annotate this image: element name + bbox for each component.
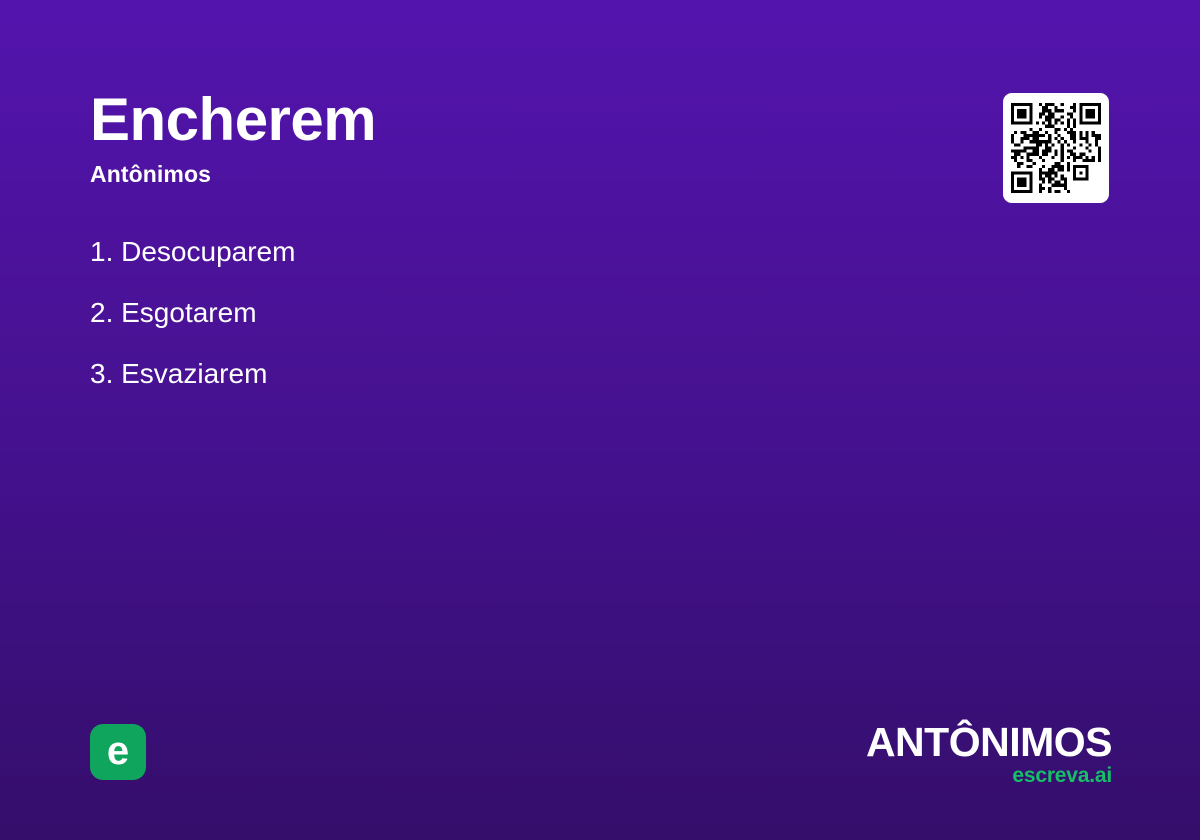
list-item: 2. Esgotarem [90,299,295,327]
list-item: 3. Esvaziarem [90,360,295,388]
escreva-logo-icon[interactable]: e [90,724,146,780]
wordmark-subtitle: escreva.ai [866,765,1112,786]
brand-wordmark: ANTÔNIMOS escreva.ai [866,722,1112,786]
wordmark-title: ANTÔNIMOS [866,722,1112,763]
qr-code[interactable] [1003,93,1109,203]
category-label: Antônimos [90,161,376,188]
list-item: 1. Desocuparem [90,238,295,266]
antonym-list: 1. Desocuparem 2. Esgotarem 3. Esvaziare… [90,238,295,421]
brand-badge-letter: e [107,731,129,771]
page-title: Encherem [90,88,376,151]
card-header: Encherem Antônimos [90,88,376,188]
qr-code-icon [1011,101,1101,195]
